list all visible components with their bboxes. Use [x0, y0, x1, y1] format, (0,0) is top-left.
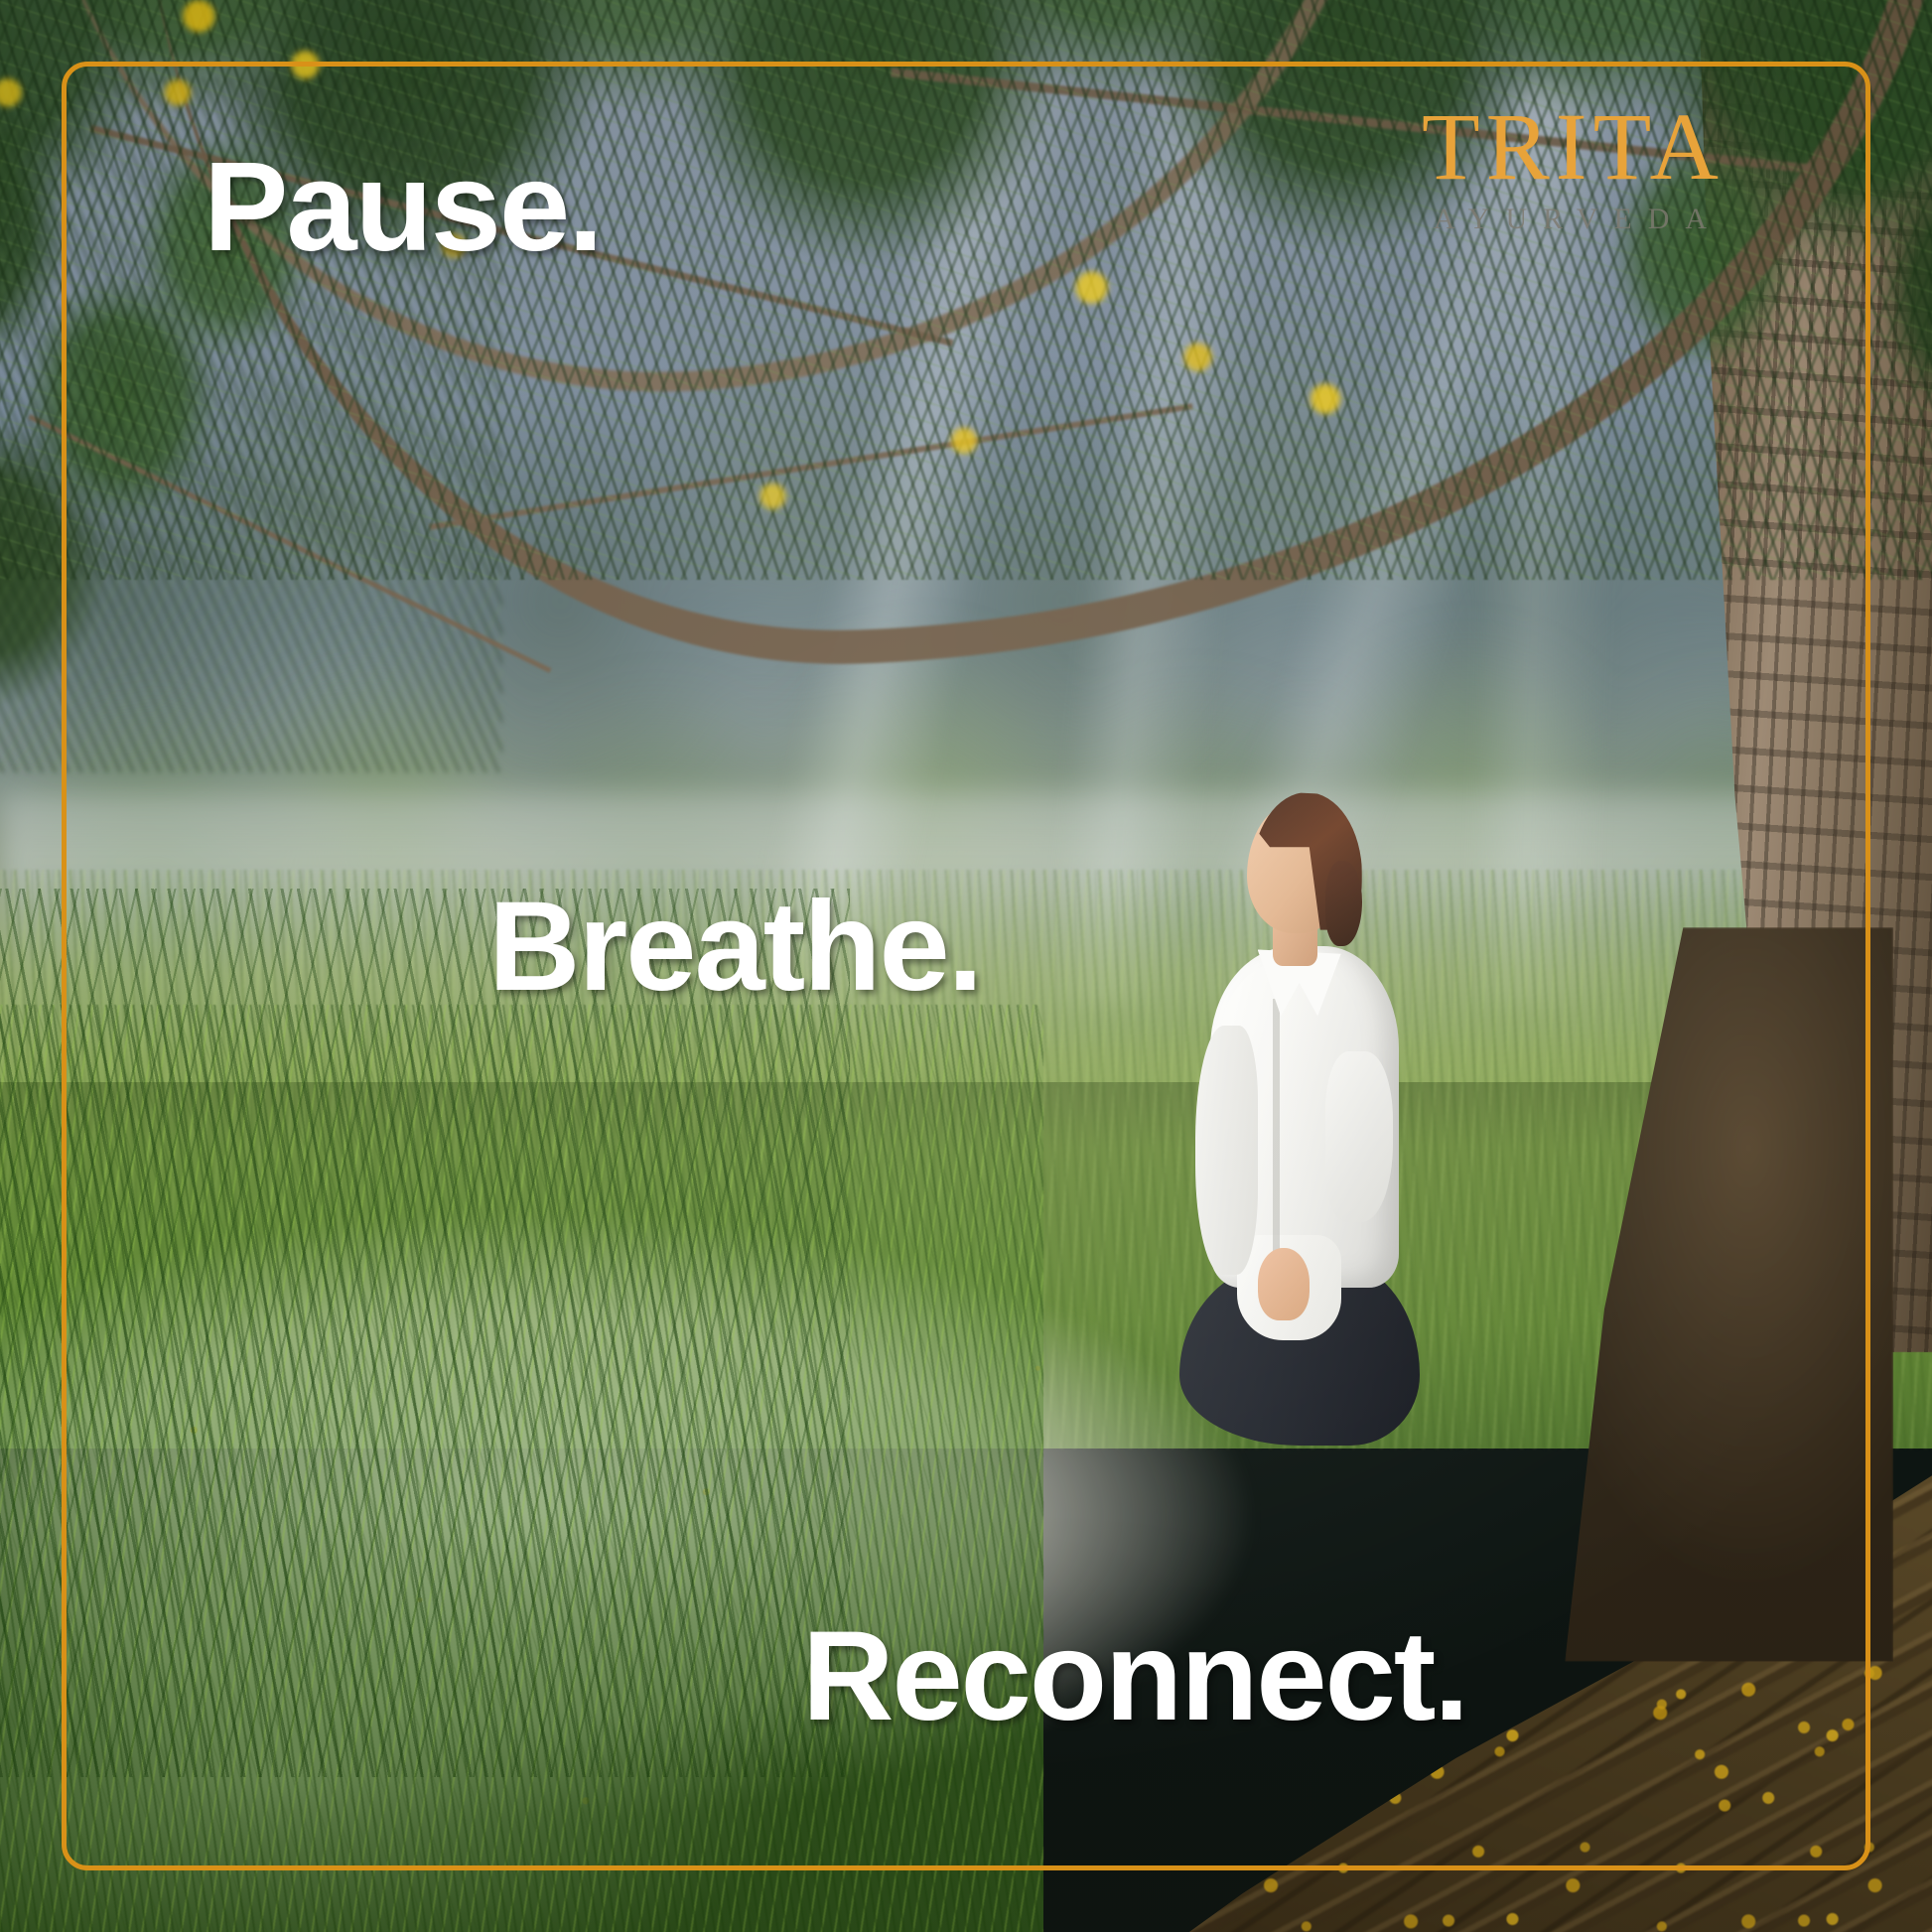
woman-rolled-sleeve: [1325, 1051, 1393, 1222]
woman-hair-bun: [1325, 861, 1362, 946]
headline-word-pause: Pause.: [204, 144, 602, 271]
brand-wordmark: TRITA: [1422, 99, 1725, 195]
woman-near-arm: [1195, 1026, 1258, 1275]
grass-blades-texture: [0, 889, 850, 1777]
social-post-canvas: Pause. Breathe. Reconnect. TRITA AYURVED…: [0, 0, 1932, 1932]
meditating-woman: [1169, 802, 1430, 1459]
brand-logo: TRITA AYURVEDA: [1422, 99, 1725, 234]
woman-resting-hands: [1258, 1248, 1311, 1320]
headline-word-breathe: Breathe.: [488, 884, 981, 1011]
woman-shirt-placket: [1273, 999, 1280, 1275]
yellow-blossom-clusters: [0, 0, 1932, 580]
headline-word-reconnect: Reconnect.: [802, 1613, 1467, 1740]
brand-tagline: AYURVEDA: [1432, 205, 1725, 234]
